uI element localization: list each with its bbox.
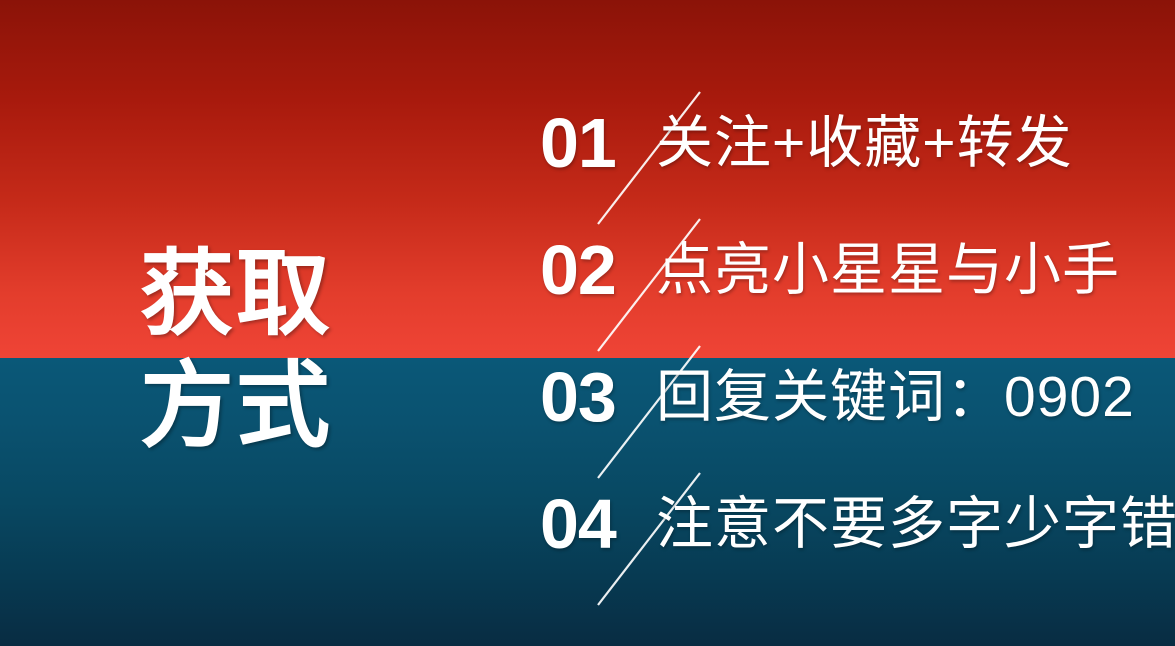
list-item: 03 回复关键词：0902 bbox=[528, 350, 1168, 477]
list-item: 01 关注+收藏+转发 bbox=[528, 96, 1168, 223]
page-title-line-2: 方式 bbox=[140, 350, 480, 462]
list-item-index: 01 bbox=[540, 108, 616, 178]
page-title-line-1: 获取 bbox=[140, 238, 480, 350]
steps-list: 01 关注+收藏+转发 02 点亮小星星与小手 03 回复关键词：0902 04 bbox=[528, 96, 1168, 604]
list-item-index: 03 bbox=[540, 362, 616, 432]
slide-canvas: 获取 方式 01 关注+收藏+转发 02 点亮小星星与小手 03 回复关键词：0… bbox=[0, 0, 1175, 646]
list-item-index: 04 bbox=[540, 489, 616, 559]
list-item: 04 注意不要多字少字错字 bbox=[528, 477, 1168, 604]
list-item-label: 回复关键词：0902 bbox=[656, 366, 1135, 428]
list-item-label: 注意不要多字少字错字 bbox=[656, 493, 1175, 555]
list-item: 02 点亮小星星与小手 bbox=[528, 223, 1168, 350]
list-item-label: 点亮小星星与小手 bbox=[656, 239, 1120, 301]
page-title: 获取 方式 bbox=[140, 238, 480, 462]
list-item-index: 02 bbox=[540, 235, 616, 305]
list-item-label: 关注+收藏+转发 bbox=[656, 112, 1073, 174]
